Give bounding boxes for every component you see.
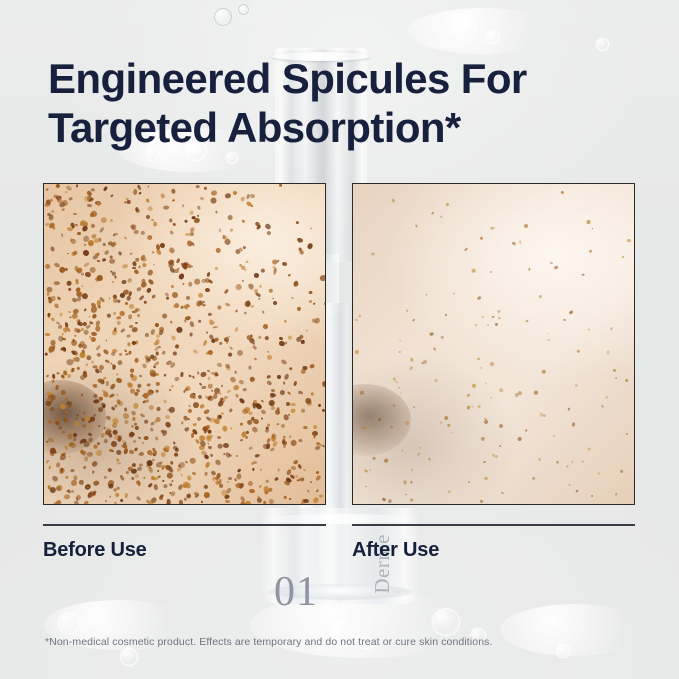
before-caption-block: Before Use [43,524,326,562]
footnote-disclaimer: *Non-medical cosmetic product. Effects a… [45,636,493,648]
bubble-icon [120,648,138,666]
bubble-icon [226,152,238,164]
bubble-icon [432,608,460,636]
after-caption-label: After Use [352,539,635,562]
water-splash-top-right [408,8,558,54]
bubble-icon [238,4,249,15]
caption-divider [352,524,635,526]
bubble-icon [486,30,500,44]
bottle-number-label: 01 [274,568,318,616]
bubble-icon [556,644,570,658]
bubble-icon [58,612,80,634]
water-splash-bottom [250,592,480,658]
bottle-base-rim [266,514,414,524]
bubble-icon [452,14,476,38]
water-splash-bottom-right [500,604,650,656]
after-caption-block: After Use [352,524,635,562]
before-image-panel [43,183,326,505]
bubble-icon [214,8,232,26]
bubble-icon [596,38,609,51]
pore-overlay-before [44,184,325,504]
promo-banner: Ampoule Derme 01 Engineered Spicules For… [0,0,679,679]
caption-divider [43,524,326,526]
page-title: Engineered Spicules For Targeted Absorpt… [48,54,638,152]
bottle-base-foot [268,584,412,600]
before-caption-label: Before Use [43,539,326,562]
pore-overlay-after [353,184,634,504]
after-image-panel [352,183,635,505]
